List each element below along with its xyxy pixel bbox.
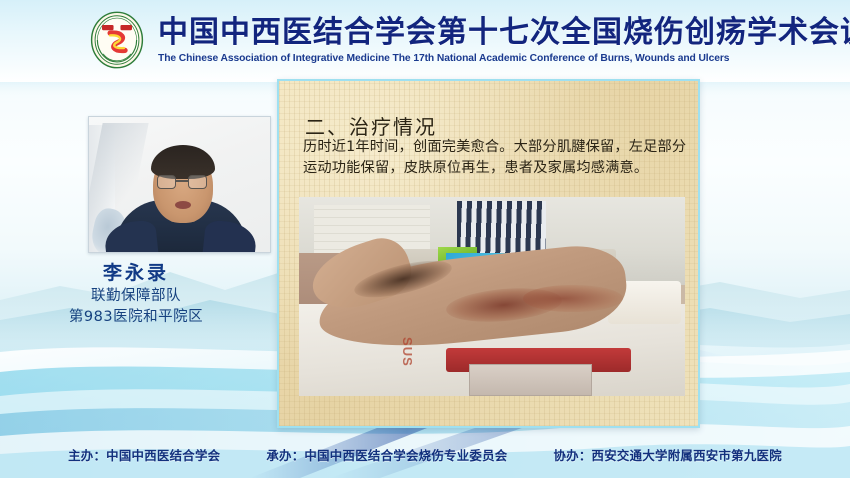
conference-header: 中国中西医结合学会第十七次全国烧伤创疡学术会议 The Chinese Asso… [0,0,850,82]
slide-body-text: 历时近1年时间，创面完美愈合。大部分肌腱保留，左足部分运动功能保留，皮肤原位再生… [303,137,691,180]
glasses-bridge-icon [176,180,188,182]
glasses-lens-left-icon [157,175,176,189]
glasses-lens-right-icon [188,175,207,189]
slide-heading: 二、治疗情况 [305,111,437,140]
photo-sheet-watermark: SUS [383,337,415,396]
video-mouth [175,201,191,209]
slide-clinical-photo: SUS [299,197,685,396]
footer-organizer: 承办：中国中西医结合学会烧伤专业委员会 [266,446,507,464]
speaker-affiliation-line-2: 第983医院和平院区 [0,307,272,328]
conference-title-cn: 中国中西医结合学会第十七次全国烧伤创疡学术会议 [158,16,850,50]
presentation-slide[interactable]: 二、治疗情况 历时近1年时间，创面完美愈合。大部分肌腱保留，左足部分运动功能保留… [277,79,700,428]
association-emblem-icon [88,10,146,70]
speaker-info-block: 李永录 联勤保障部队 第983医院和平院区 [0,262,272,328]
speaker-video-feed[interactable] [88,116,271,253]
photo-bed-footboard [469,364,593,396]
presentation-stage: 中国中西医结合学会第十七次全国烧伤创疡学术会议 The Chinese Asso… [0,0,850,478]
speaker-affiliation-line-1: 联勤保障部队 [0,286,272,307]
footer-credits: 主办：中国中西医结合学会 承办：中国中西医结合学会烧伤专业委员会 协办：西安交通… [0,446,850,464]
footer-co-organizer: 协办：西安交通大学附属西安市第九医院 [553,446,781,464]
conference-title-en: The Chinese Association of Integrative M… [158,53,850,64]
footer-host: 主办：中国中西医结合学会 [68,446,220,464]
speaker-name: 李永录 [0,262,272,286]
